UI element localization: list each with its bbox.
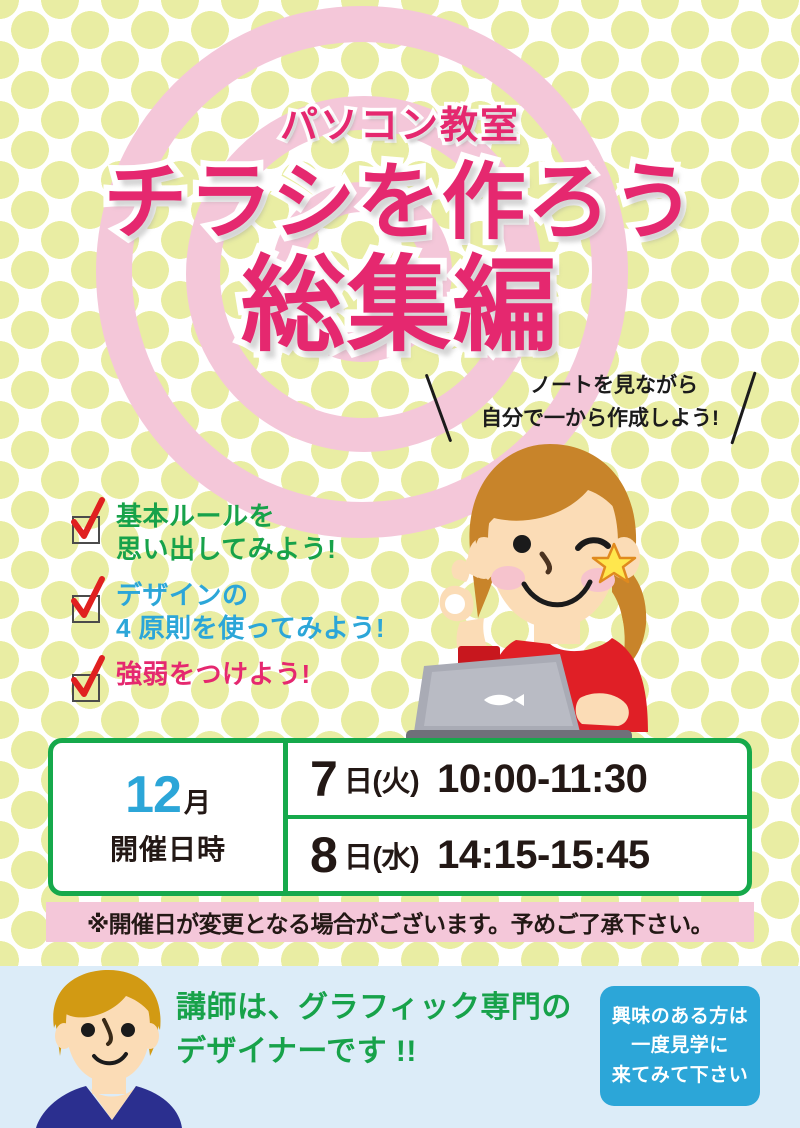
checklist-text-2-line-1: デザインの — [116, 579, 385, 612]
schedule-table: 12月 開催日時 7 日(火) 10:00-11:30 8 日(水) 14:15… — [48, 738, 752, 896]
checklist-item-3: 強弱をつけよう! — [72, 658, 385, 702]
checkbox-1[interactable] — [72, 516, 100, 544]
day-suffix-2: 日(水) — [344, 834, 419, 876]
day-suffix-1: 日(火) — [344, 758, 419, 800]
schedule-row-2: 8 日(水) 14:15-15:45 — [288, 815, 747, 891]
checklist: 基本ルールを 思い出してみよう! デザインの 4 原則を使ってみよう! — [72, 500, 385, 716]
schedule-month-cell: 12月 開催日時 — [53, 743, 288, 891]
checklist-text-1-line-1: 基本ルールを — [116, 500, 336, 533]
checklist-text-1: 基本ルールを 思い出してみよう! — [116, 500, 336, 565]
checklist-text-2-line-2: 4 原則を使ってみよう! — [116, 612, 385, 645]
time-range-2: 14:15-15:45 — [437, 833, 649, 878]
title-line-2: 総集編 — [0, 254, 800, 358]
note-line-1: ノートを見ながら — [455, 370, 745, 403]
check-mark-icon — [68, 575, 108, 623]
kicker-text: パソコン教室 — [0, 94, 800, 149]
cta-line-3: 来てみて下さい — [612, 1061, 749, 1090]
checklist-text-3-line-1: 強弱をつけよう! — [116, 658, 311, 691]
checkbox-2[interactable] — [72, 595, 100, 623]
month-number: 12 — [125, 766, 181, 824]
footer-message: 講師は、グラフィック専門の デザイナーです !! — [176, 986, 586, 1073]
schedule-label: 開催日時 — [110, 828, 226, 868]
notice-strip: ※開催日が変更となる場合がございます。予めご了承下さい。 — [46, 902, 754, 942]
schedule-rows: 7 日(火) 10:00-11:30 8 日(水) 14:15-15:45 — [288, 743, 747, 891]
cta-box[interactable]: 興味のある方は 一度見学に 来てみて下さい — [600, 986, 760, 1106]
checklist-text-1-line-2: 思い出してみよう! — [116, 533, 336, 566]
title-line-1: チラシを作ろう — [0, 160, 800, 244]
check-mark-icon — [68, 496, 108, 544]
checklist-item-1: 基本ルールを 思い出してみよう! — [72, 500, 385, 565]
month-line: 12月 — [125, 769, 211, 821]
woman-with-laptop-illustration — [398, 432, 758, 752]
checklist-text-3: 強弱をつけよう! — [116, 658, 311, 691]
flyer-poster: パソコン教室 チラシを作ろう 総集編 ノートを見ながら 自分で一から作成しよう! — [0, 0, 800, 1128]
footer-band: 講師は、グラフィック専門の デザイナーです !! 興味のある方は 一度見学に 来… — [0, 966, 800, 1128]
check-mark-icon — [68, 654, 108, 702]
time-range-1: 10:00-11:30 — [437, 757, 647, 802]
month-unit: 月 — [184, 788, 211, 818]
day-number-2: 8 — [310, 830, 338, 880]
schedule-row-1: 7 日(火) 10:00-11:30 — [288, 743, 747, 815]
handwritten-note: ノートを見ながら 自分で一から作成しよう! — [455, 370, 745, 435]
note-line-2: 自分で一から作成しよう! — [455, 403, 745, 436]
day-number-1: 7 — [310, 754, 338, 804]
instructor-illustration — [18, 968, 198, 1128]
footer-message-line-2: デザイナーです !! — [176, 1030, 586, 1074]
cta-line-1: 興味のある方は — [612, 1002, 749, 1031]
footer-message-line-1: 講師は、グラフィック専門の — [176, 986, 586, 1030]
checklist-text-2: デザインの 4 原則を使ってみよう! — [116, 579, 385, 644]
checklist-item-2: デザインの 4 原則を使ってみよう! — [72, 579, 385, 644]
cta-line-2: 一度見学に — [631, 1031, 729, 1060]
checkbox-3[interactable] — [72, 674, 100, 702]
